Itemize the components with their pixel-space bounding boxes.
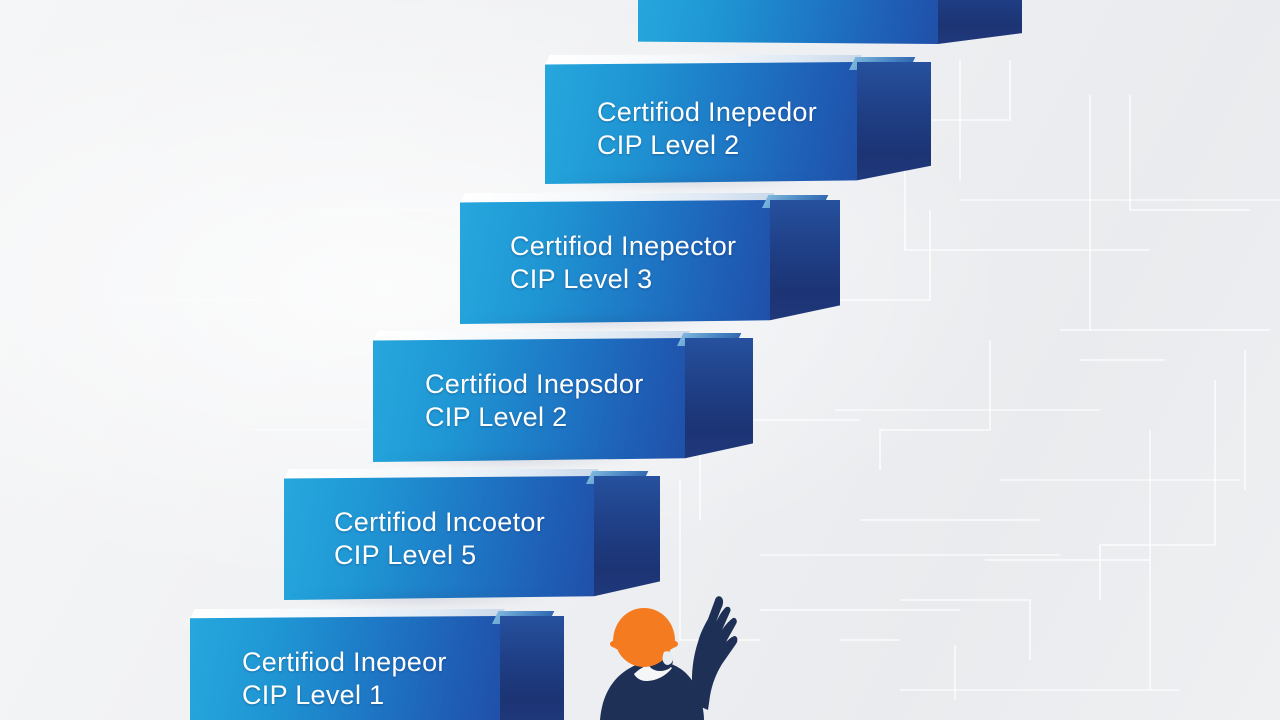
step-block-level2-upper[interactable]: Certifiod Inepedor CIP Level 2 xyxy=(545,62,857,184)
step-side-face xyxy=(500,616,564,720)
step-front-face xyxy=(638,0,938,44)
construction-worker-figure xyxy=(586,586,746,720)
step-block-level5-lower[interactable]: Certifiod Incoetor CIP Level 5 xyxy=(284,476,594,600)
step-front-face xyxy=(460,200,770,324)
step-block-level2-middle[interactable]: Certifiod Inepsdor CIP Level 2 xyxy=(373,338,685,462)
step-side-face xyxy=(685,338,753,462)
hardhat-brim xyxy=(610,638,678,650)
step-side-face xyxy=(594,476,660,600)
step-front-face xyxy=(373,338,685,462)
step-block-level1-bottom[interactable]: Certifiod Inepeor CIP Level 1 xyxy=(190,616,500,720)
step-block-level5-top[interactable]: CIP Level 5 xyxy=(638,0,938,46)
step-front-face xyxy=(284,476,594,600)
step-side-face xyxy=(857,62,931,184)
step-block-level3-upper[interactable]: Certifiod Inepector CIP Level 3 xyxy=(460,200,770,324)
step-side-face xyxy=(770,200,840,324)
step-front-face xyxy=(545,62,857,184)
worker-raised-arm xyxy=(692,596,737,710)
illustration-canvas: CIP Level 5 Certifiod Inepedor CIP Level… xyxy=(0,0,1280,720)
step-front-face xyxy=(190,616,500,720)
